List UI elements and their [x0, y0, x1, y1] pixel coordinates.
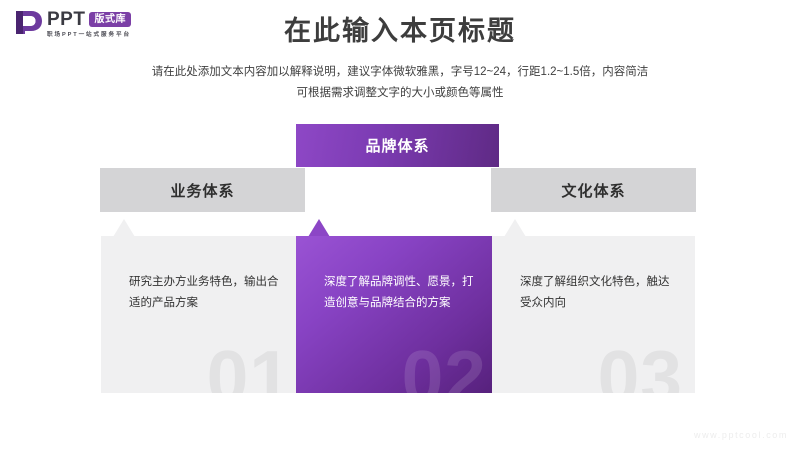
column-header-business[interactable]: 业务体系 [100, 168, 305, 212]
column-number-watermark: 03 [598, 340, 683, 393]
column-card-business[interactable]: 研究主办方业务特色，输出合适的产品方案 01 [101, 236, 304, 393]
column-body-text: 深度了解组织文化特色，触达受众内向 [520, 272, 675, 314]
column-header-brand[interactable]: 品牌体系 [296, 124, 499, 167]
column-card-culture[interactable]: 深度了解组织文化特色，触达受众内向 03 [492, 236, 695, 393]
column-body-text: 深度了解品牌调性、愿景，打造创意与品牌结合的方案 [324, 272, 479, 314]
three-column-diagram: 业务体系 品牌体系 文化体系 研究主办方业务特色，输出合适的产品方案 01 深度… [0, 0, 800, 450]
connector-arrow-business [113, 219, 135, 237]
column-card-brand[interactable]: 深度了解品牌调性、愿景，打造创意与品牌结合的方案 02 [296, 236, 499, 393]
column-header-label: 品牌体系 [365, 135, 429, 156]
column-number-watermark: 02 [402, 340, 487, 393]
connector-arrow-brand [308, 219, 330, 237]
column-body-text: 研究主办方业务特色，输出合适的产品方案 [129, 272, 284, 314]
column-header-label: 文化体系 [561, 180, 625, 201]
column-header-culture[interactable]: 文化体系 [491, 168, 696, 212]
connector-arrow-culture [504, 219, 526, 237]
column-number-watermark: 01 [207, 340, 292, 393]
site-watermark: www.pptcool.com [694, 430, 788, 440]
column-header-label: 业务体系 [170, 180, 234, 201]
